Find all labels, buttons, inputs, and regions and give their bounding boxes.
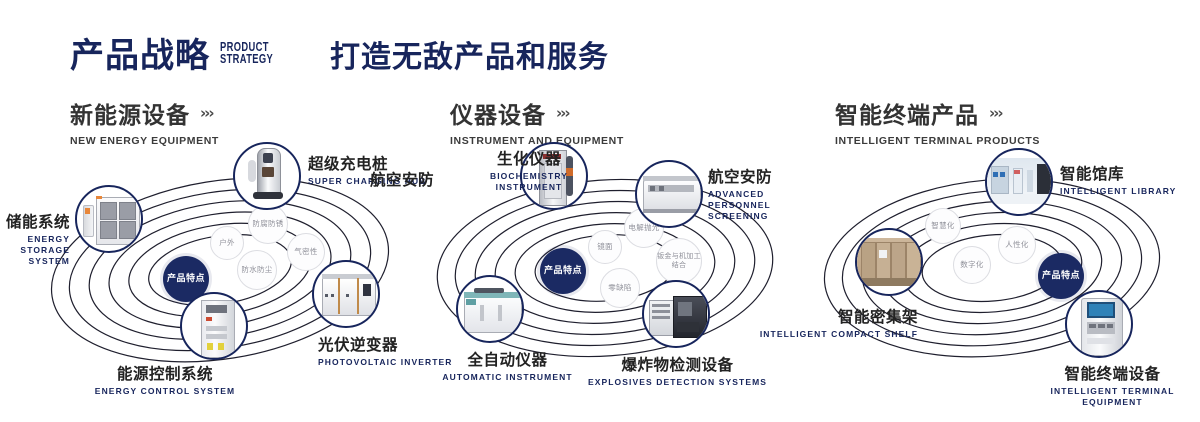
feature-bubble-smart: 智慧化 xyxy=(925,208,961,244)
product-photo-library xyxy=(987,150,1051,214)
node-label-cn: 智能馆库 xyxy=(1060,162,1200,184)
node-label-en: ADVANCED PERSONNEL SCREENING xyxy=(708,189,823,222)
node-label-en: INTELLIGENT TERMINAL EQUIPMENT xyxy=(1025,386,1200,408)
chevron-right-icon: ››› xyxy=(200,104,213,122)
section-title-cn-text: 仪器设备 xyxy=(450,96,546,130)
section-title-cn: 智能终端产品 ››› xyxy=(835,96,1040,130)
node-label-en: INTELLIGENT COMPACT SHELF xyxy=(740,329,918,340)
chevron-right-icon: ››› xyxy=(989,104,1002,122)
node-label-cn: 航空安防 xyxy=(708,165,823,187)
section-header-new-energy: 新能源设备 ››› NEW ENERGY EQUIPMENT xyxy=(70,96,219,147)
product-photo-control-system xyxy=(182,294,246,358)
feature-bubble-outdoor: 户外 xyxy=(210,226,244,260)
node-label-cn: 储能系统 xyxy=(0,210,70,232)
section-title-cn-text: 智能终端产品 xyxy=(835,96,979,130)
feature-bubble-sheetmetal-machining: 钣金与机加工结合 xyxy=(656,238,702,284)
brand-title-en-line2: STRATEGY xyxy=(220,53,273,65)
section-title-cn: 新能源设备 ››› xyxy=(70,96,219,130)
product-photo-explosives-detection xyxy=(644,282,708,346)
label-intelligent-library: 智能馆库 INTELLIGENT LIBRARY xyxy=(1060,162,1200,197)
node-intelligent-library[interactable] xyxy=(985,148,1053,216)
node-intelligent-terminal-equipment[interactable] xyxy=(1065,290,1133,358)
cluster-intelligent-terminal: 智慧化 数字化 人性化 产品特点 智能馆库 xyxy=(810,150,1200,390)
core-bubble-label: 产品特点 xyxy=(544,266,582,277)
product-photo-terminal-equipment xyxy=(1067,292,1131,356)
node-label-cn: 智能密集架 xyxy=(740,305,918,327)
node-label-cn: 智能终端设备 xyxy=(1025,362,1200,384)
chevron-right-icon: ››› xyxy=(556,104,569,122)
feature-label: 人性化 xyxy=(1005,240,1028,250)
core-bubble-label: 产品特点 xyxy=(167,274,205,285)
node-label-cn: 爆炸物检测设备 xyxy=(585,353,770,375)
label-energy-control-system: 能源控制系统 ENERGY CONTROL SYSTEM xyxy=(70,362,260,397)
node-intelligent-compact-shelf[interactable] xyxy=(855,228,923,296)
feature-bubble-waterproof: 防水防尘 xyxy=(237,250,277,290)
node-label-cn: 生化仪器 xyxy=(475,147,583,169)
node-super-charging-hub[interactable] xyxy=(233,142,301,210)
headline: 打造无敌产品和服务 xyxy=(330,32,609,76)
feature-bubble-anticorrosion: 防腐防锈 xyxy=(248,204,288,244)
feature-label: 镜面 xyxy=(597,242,613,252)
feature-bubble-zero-defect: 零缺陷 xyxy=(600,268,640,308)
label-energy-storage-system: 储能系统 ENERGY STORAGE SYSTEM xyxy=(0,210,70,267)
node-energy-storage-system[interactable] xyxy=(75,185,143,253)
node-label-en: ENERGY STORAGE SYSTEM xyxy=(0,234,70,267)
feature-label: 防水防尘 xyxy=(241,265,272,275)
feature-bubble-digital: 数字化 xyxy=(953,246,991,284)
feature-label: 钣金与机加工结合 xyxy=(657,252,701,271)
node-automatic-instrument[interactable] xyxy=(456,275,524,343)
feature-label: 智慧化 xyxy=(931,221,954,231)
label-automatic-instrument: 全自动仪器 AUTOMATIC INSTRUMENT xyxy=(415,348,600,383)
cluster-instrument: 产品特点 镜面 电解抛光 零缺陷 钣金与机加工结合 生化仪器 BIOCHEMI xyxy=(420,150,820,390)
core-bubble-label: 产品特点 xyxy=(1042,271,1080,282)
product-photo-inverter xyxy=(314,262,378,326)
brand-title-en: PRODUCT STRATEGY xyxy=(220,41,273,65)
feature-label: 户外 xyxy=(219,238,235,248)
node-label-cn: 航空安防 xyxy=(370,168,430,190)
feature-label: 气密性 xyxy=(294,247,317,257)
node-label-en: BIOCHEMISTRY INSTRUMENT xyxy=(475,171,583,193)
label-explosives-detection: 爆炸物检测设备 EXPLOSIVES DETECTION SYSTEMS xyxy=(585,353,770,388)
infographic-canvas: 产品战略 PRODUCT STRATEGY 打造无敌产品和服务 新能源设备 ››… xyxy=(0,0,1200,422)
node-label-en: AUTOMATIC INSTRUMENT xyxy=(415,372,600,383)
feature-label: 数字化 xyxy=(960,260,983,270)
label-intelligent-terminal-equipment: 智能终端设备 INTELLIGENT TERMINAL EQUIPMENT xyxy=(1025,362,1200,408)
node-label-cn: 全自动仪器 xyxy=(415,348,600,370)
section-title-en: NEW ENERGY EQUIPMENT xyxy=(70,135,219,147)
section-title-cn-text: 新能源设备 xyxy=(70,96,190,130)
node-energy-control-system[interactable] xyxy=(180,292,248,360)
feature-bubble-humanized: 人性化 xyxy=(998,226,1036,264)
product-photo-screening xyxy=(637,162,701,226)
section-title-cn: 仪器设备 ››› xyxy=(450,96,624,130)
node-photovoltaic-inverter[interactable] xyxy=(312,260,380,328)
product-photo-automatic-instrument xyxy=(458,277,522,341)
brand-title: 产品战略 PRODUCT STRATEGY xyxy=(70,28,294,77)
feature-label: 防腐防锈 xyxy=(252,219,283,229)
node-label-en: ENERGY CONTROL SYSTEM xyxy=(70,386,260,397)
node-label-en: EXPLOSIVES DETECTION SYSTEMS xyxy=(585,377,770,388)
product-photo-charging-hub xyxy=(235,144,299,208)
node-label-cn: 能源控制系统 xyxy=(70,362,260,384)
brand-title-cn: 产品战略 xyxy=(70,28,210,77)
section-title-en: INTELLIGENT TERMINAL PRODUCTS xyxy=(835,135,1040,147)
section-header-intelligent-terminal: 智能终端产品 ››› INTELLIGENT TERMINAL PRODUCTS xyxy=(835,96,1040,147)
label-advanced-personnel-screening: 航空安防 ADVANCED PERSONNEL SCREENING xyxy=(708,165,823,222)
core-bubble-product-features: 产品特点 xyxy=(540,248,586,294)
feature-bubble-mirror: 镜面 xyxy=(588,230,622,264)
label-intelligent-compact-shelf: 智能密集架 INTELLIGENT COMPACT SHELF xyxy=(740,305,918,340)
node-explosives-detection[interactable] xyxy=(642,280,710,348)
product-photo-compact-shelf xyxy=(857,230,921,294)
node-advanced-personnel-screening[interactable] xyxy=(635,160,703,228)
section-header-instrument: 仪器设备 ››› INSTRUMENT AND EQUIPMENT xyxy=(450,96,624,147)
feature-label: 零缺陷 xyxy=(608,283,631,293)
label-biochemistry-instrument: 生化仪器 BIOCHEMISTRY INSTRUMENT xyxy=(475,147,583,193)
label-aviation-security-left: 航空安防 xyxy=(370,168,430,190)
node-label-en: INTELLIGENT LIBRARY xyxy=(1060,186,1200,197)
product-photo-energy-storage xyxy=(77,187,141,251)
cluster-new-energy: 产品特点 户外 防腐防锈 防水防尘 气密性 xyxy=(40,150,420,390)
